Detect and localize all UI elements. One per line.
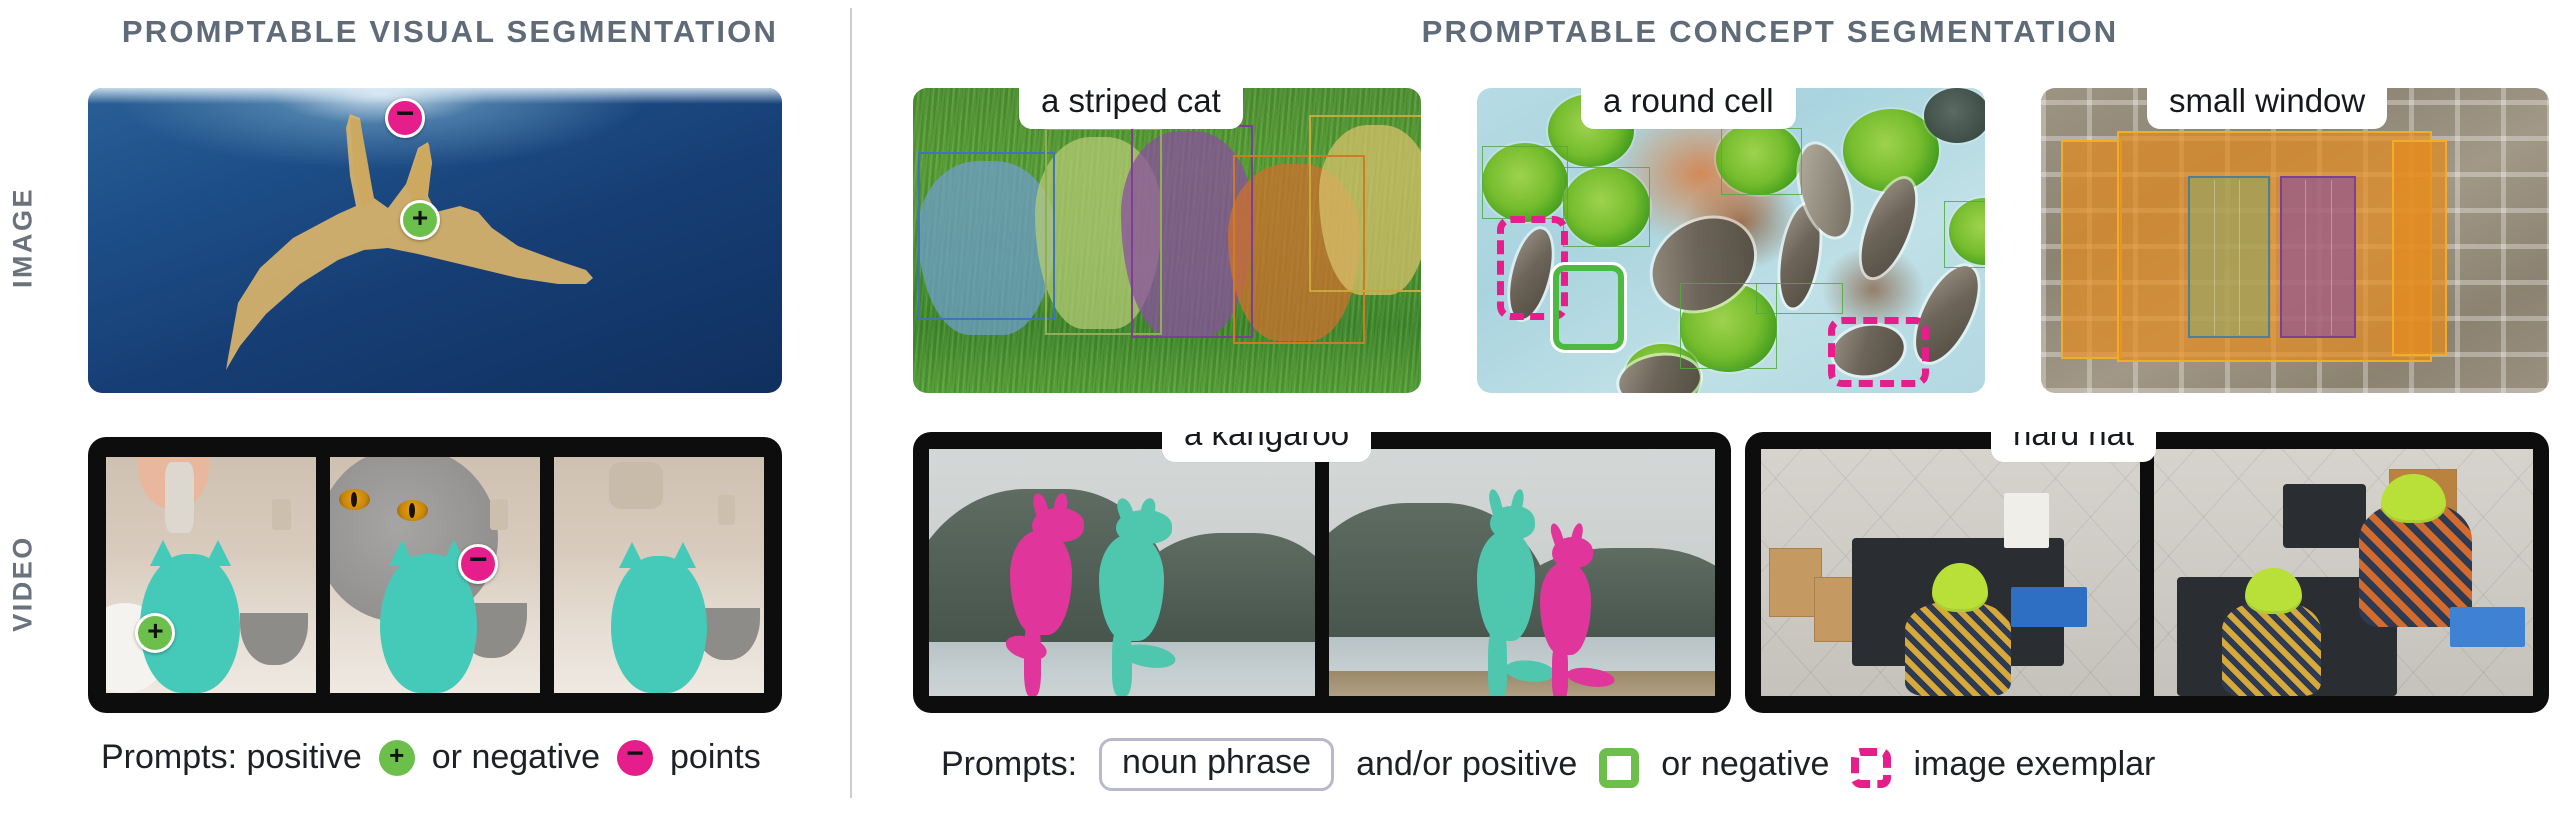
wall-fixture	[718, 495, 735, 526]
plus-icon: +	[412, 204, 428, 232]
detection-box	[1482, 146, 1568, 219]
caption-lead-text: Prompts: positive	[101, 738, 362, 777]
window-frame-mask	[2117, 131, 2432, 363]
plus-icon: +	[389, 740, 404, 771]
caption-middle2-text: or negative	[1661, 745, 1829, 784]
video-frame	[2154, 449, 2533, 696]
shelf-object	[609, 462, 664, 509]
detection-box	[1309, 115, 1421, 292]
kangaroo-mask-magenta	[1530, 523, 1615, 696]
positive-exemplar-legend-icon	[1599, 748, 1639, 788]
caption-middle-text: and/or positive	[1356, 745, 1577, 784]
right-panel-title: PROMPTABLE CONCEPT SEGMENTATION	[1020, 14, 2520, 50]
video-frame-strip	[1761, 449, 2533, 696]
cat-segmentation-mask	[611, 556, 708, 693]
mullion	[2214, 180, 2215, 336]
video-frame	[1329, 449, 1715, 696]
concept-label-pill: small window	[2147, 88, 2387, 129]
mullion	[2331, 180, 2332, 336]
mullion	[2305, 180, 2306, 336]
figure-root: PROMPTABLE VISUAL SEGMENTATION PROMPTABL…	[0, 0, 2560, 818]
left-panel-title: PROMPTABLE VISUAL SEGMENTATION	[90, 14, 810, 50]
detection-box	[1944, 201, 1985, 268]
video-frame	[1761, 449, 2140, 696]
worker-torso	[2222, 602, 2321, 696]
wall-fixture	[490, 499, 509, 530]
cat-eye	[339, 489, 370, 510]
held-object	[165, 462, 194, 533]
video-frame-strip	[929, 449, 1715, 696]
pupil	[351, 492, 357, 507]
caption-middle-text: or negative	[432, 738, 600, 777]
caption-lead-text: Prompts:	[941, 745, 1077, 784]
kitten-image-card: a striped cat	[913, 88, 1421, 393]
concept-label-pill: a striped cat	[1019, 88, 1243, 129]
shutter-mask-left	[2061, 140, 2122, 360]
positive-point-prompt[interactable]: +	[400, 200, 440, 240]
window-pane-mask-purple	[2280, 176, 2356, 338]
shutter-mask-right	[2392, 140, 2448, 357]
paper-stack	[2004, 493, 2049, 547]
concept-label-pill: a kangaroo	[1162, 432, 1371, 462]
video-frame: −	[330, 457, 540, 693]
right-panel-caption: Prompts: noun phrase and/or positive or …	[935, 738, 2161, 791]
minus-icon: −	[626, 737, 644, 771]
concept-label-pill: hard hat	[1991, 432, 2156, 462]
pupil	[409, 503, 415, 518]
cat-eye	[397, 500, 428, 521]
window-image-card: small window	[2041, 88, 2549, 393]
minus-icon: −	[396, 97, 415, 129]
video-frame: +	[106, 457, 316, 693]
detection-box	[1721, 128, 1802, 195]
negative-point-prompt[interactable]: −	[385, 98, 425, 138]
detection-box	[918, 152, 1055, 320]
hardhat-video-card: hard hat	[1745, 432, 2549, 713]
panel-divider	[850, 8, 852, 798]
kangaroo-mask-teal	[1091, 498, 1195, 696]
caption-tail-text: image exemplar	[1913, 745, 2155, 784]
positive-image-exemplar-box[interactable]	[1553, 265, 1624, 350]
left-panel-caption: Prompts: positive + or negative − points	[95, 738, 767, 777]
window-pane-mask-olive	[2188, 176, 2269, 338]
whale-segmentation-mask	[88, 88, 782, 393]
kangaroo-video-card: a kangaroo	[913, 432, 1731, 713]
cells-image-card: a round cell	[1477, 88, 1985, 393]
detection-box	[1563, 167, 1649, 246]
negative-image-exemplar-box[interactable]	[1828, 317, 1930, 387]
whale-image-card: − +	[88, 88, 782, 393]
wall-fixture	[272, 499, 291, 530]
cat-video-card: + −	[88, 437, 782, 713]
caption-tail-text: points	[670, 738, 761, 777]
negative-exemplar-legend-icon	[1851, 748, 1891, 788]
video-frame	[929, 449, 1315, 696]
video-frame-strip: + −	[106, 457, 764, 693]
positive-point-prompt[interactable]: +	[135, 613, 175, 653]
laptop	[2011, 587, 2087, 627]
row-label-video: VIDEO	[8, 524, 39, 644]
dark-cell	[1924, 88, 1985, 143]
noun-phrase-chip: noun phrase	[1099, 738, 1334, 791]
minus-icon: −	[469, 543, 488, 575]
mullion	[2239, 180, 2240, 336]
positive-point-legend-icon: +	[379, 740, 415, 776]
equipment	[2283, 484, 2366, 548]
row-label-image: IMAGE	[8, 178, 39, 298]
plus-icon: +	[147, 617, 163, 645]
laptop	[2450, 607, 2526, 647]
negative-point-legend-icon: −	[617, 740, 653, 776]
worker-torso	[1905, 602, 2011, 696]
concept-label-pill: a round cell	[1581, 88, 1796, 129]
detection-box	[1756, 283, 1842, 314]
video-frame	[554, 457, 764, 693]
